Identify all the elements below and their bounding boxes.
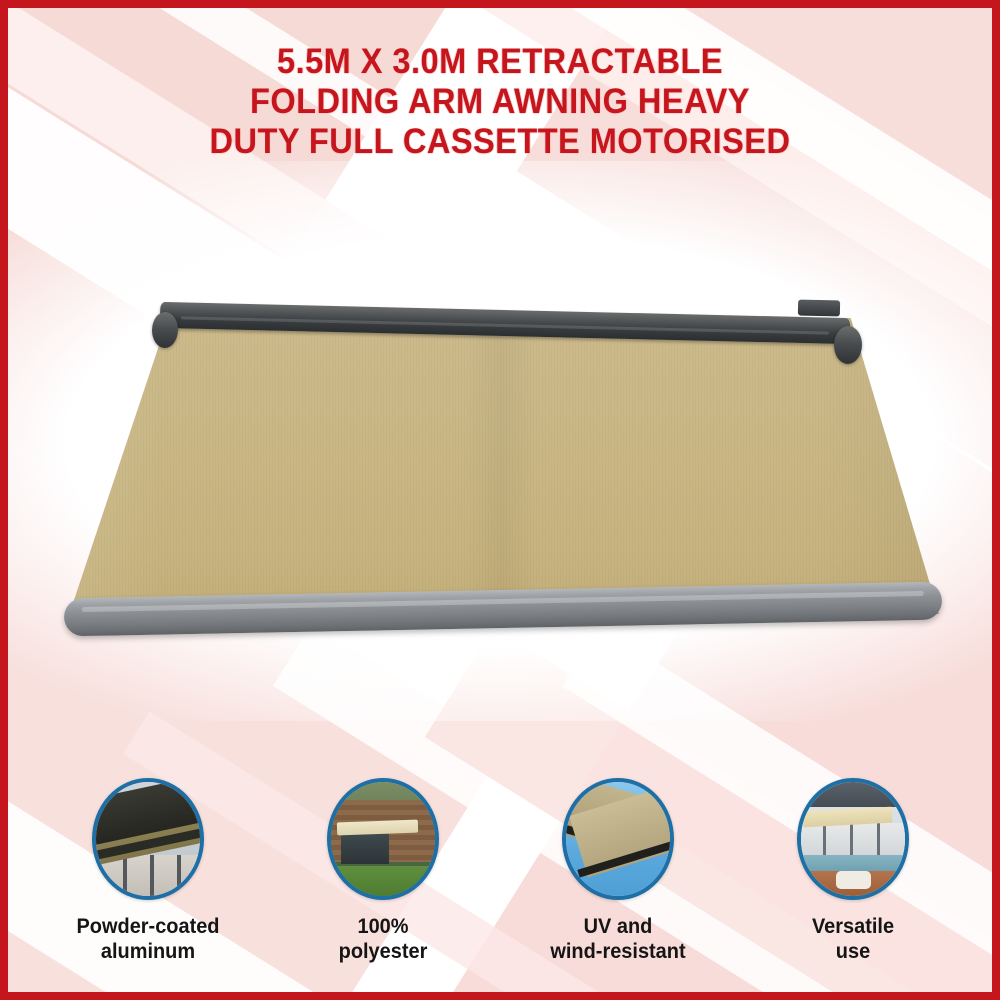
poolside-patio-icon: [797, 778, 909, 900]
banner-canvas: 5.5M X 3.0M RETRACTABLE FOLDING ARM AWNI…: [8, 8, 992, 992]
page-title: 5.5M X 3.0M RETRACTABLE FOLDING ARM AWNI…: [8, 42, 992, 162]
awning-closeup-icon: [92, 778, 204, 900]
awning-underside-sky-icon: [562, 778, 674, 900]
feature-badge-row: Powder-coated aluminum 100% polyester: [8, 778, 992, 964]
feature-badge-polyester: 100% polyester: [278, 778, 488, 964]
product-banner: 5.5M X 3.0M RETRACTABLE FOLDING ARM AWNI…: [0, 0, 1000, 1000]
feature-badge-powder-coated-aluminum: Powder-coated aluminum: [43, 778, 253, 964]
feature-badge-versatile-use: Versatile use: [748, 778, 958, 964]
title-line-3: DUTY FULL CASSETTE MOTORISED: [42, 122, 957, 162]
awning-fabric: [56, 318, 946, 614]
product-image-awning: [56, 296, 946, 646]
feature-badge-label: UV and wind-resistant: [518, 914, 718, 964]
title-line-2: FOLDING ARM AWNING HEAVY: [42, 82, 957, 122]
title-line-1: 5.5M X 3.0M RETRACTABLE: [42, 42, 957, 82]
feature-badge-label: Versatile use: [753, 914, 953, 964]
feature-badge-label: Powder-coated aluminum: [48, 914, 248, 964]
feature-badge-label: 100% polyester: [283, 914, 483, 964]
awning-mounting-bracket: [798, 300, 840, 317]
house-awning-lawn-icon: [327, 778, 439, 900]
feature-badge-uv-wind-resistant: UV and wind-resistant: [513, 778, 723, 964]
